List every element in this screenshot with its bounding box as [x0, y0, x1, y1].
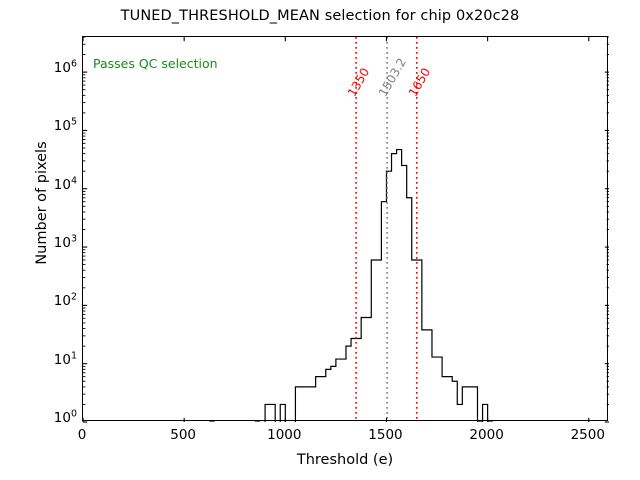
chart-figure: TUNED_THRESHOLD_MEAN selection for chip …: [0, 0, 640, 480]
x-tick-0: 0: [52, 427, 112, 443]
plot-area: Passes QC selection 13501503.21650: [82, 36, 608, 421]
x-tick-1000: 1000: [254, 427, 314, 443]
chart-title: TUNED_THRESHOLD_MEAN selection for chip …: [0, 8, 640, 24]
x-tick-1500: 1500: [355, 427, 415, 443]
axis-ticks: [83, 37, 629, 442]
y-tick-1: 101: [5, 354, 77, 368]
y-axis-label: Number of pixels: [34, 113, 50, 293]
y-tick-0: 100: [5, 412, 77, 426]
x-tick-500: 500: [153, 427, 213, 443]
y-tick-6: 106: [5, 62, 77, 76]
y-tick-2: 102: [5, 295, 77, 309]
x-axis-label: Threshold (e): [82, 452, 608, 468]
x-tick-2000: 2000: [457, 427, 517, 443]
x-tick-2500: 2500: [558, 427, 618, 443]
